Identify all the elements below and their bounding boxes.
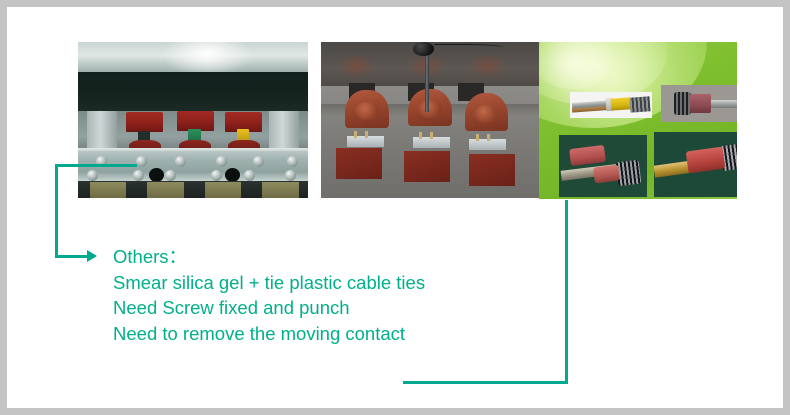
terracotta-insulator	[465, 93, 509, 130]
yellow-sleeve	[611, 98, 631, 111]
hanging-probe-rod	[425, 47, 429, 113]
connector-left-top-segment	[55, 164, 137, 167]
slide-canvas: Others： Smear silica gel + tie plastic c…	[0, 0, 790, 415]
slide-page: Others： Smear silica gel + tie plastic c…	[7, 7, 783, 408]
rail-bolt	[175, 156, 186, 167]
panel-dark-band	[78, 72, 308, 111]
pad-screw	[365, 131, 368, 138]
sub-photo-brass-rod-red-sleeve	[654, 132, 737, 197]
pad-screw	[487, 134, 490, 141]
rail-bolt	[253, 156, 264, 167]
rail-bolt	[216, 156, 227, 167]
base-plate	[90, 182, 127, 198]
pad-screw	[430, 132, 433, 139]
spring-contact	[674, 92, 692, 116]
busbar	[336, 148, 382, 179]
base-plate	[205, 182, 242, 198]
notes-block: Others： Smear silica gel + tie plastic c…	[113, 244, 533, 346]
red-sleeve	[569, 145, 606, 167]
photo-terracotta-insulators	[321, 42, 539, 198]
connector-left-vertical-segment	[55, 164, 58, 258]
sub-photo-maroon-sleeve	[661, 85, 737, 122]
base-plate	[147, 182, 184, 198]
sub-photo-yellow-sleeve	[570, 92, 652, 118]
spring-contact	[616, 160, 642, 186]
busbar	[404, 151, 450, 182]
rail-bolt	[244, 170, 255, 181]
notes-line-2: Need Screw fixed and punch	[113, 295, 533, 321]
pad-screw	[354, 131, 357, 138]
pad-screw	[476, 134, 479, 141]
red-sleeve	[593, 165, 619, 184]
red-insulator-block	[177, 111, 214, 131]
red-insulator-block	[126, 112, 163, 132]
notes-line-1: Smear silica gel + tie plastic cable tie…	[113, 270, 533, 296]
hanging-probe-knob	[413, 42, 435, 56]
sub-photo-twin-red-sleeves	[559, 135, 647, 197]
rail-bolt	[136, 156, 147, 167]
panel-ceiling	[78, 42, 308, 72]
pad-screw	[419, 132, 422, 139]
terracotta-insulator	[345, 90, 389, 127]
terracotta-insulator	[408, 89, 452, 126]
busbar	[469, 154, 515, 185]
hanging-wire	[434, 44, 504, 50]
spring-contact	[629, 96, 650, 112]
notes-line-3: Need to remove the moving contact	[113, 321, 533, 347]
red-sleeve	[686, 146, 726, 173]
maroon-sleeve	[690, 94, 711, 113]
arrow-head-icon	[87, 250, 97, 262]
photo-contact-assemblies	[539, 42, 737, 199]
connector-left-bottom-segment	[55, 255, 91, 258]
connector-right-horizontal-segment	[403, 381, 568, 384]
connector-right-vertical-segment	[565, 200, 568, 384]
photo-switchgear-panel	[78, 42, 308, 198]
notes-heading: Others：	[113, 244, 533, 270]
rail-bolt	[285, 170, 296, 181]
base-plate	[262, 182, 299, 198]
